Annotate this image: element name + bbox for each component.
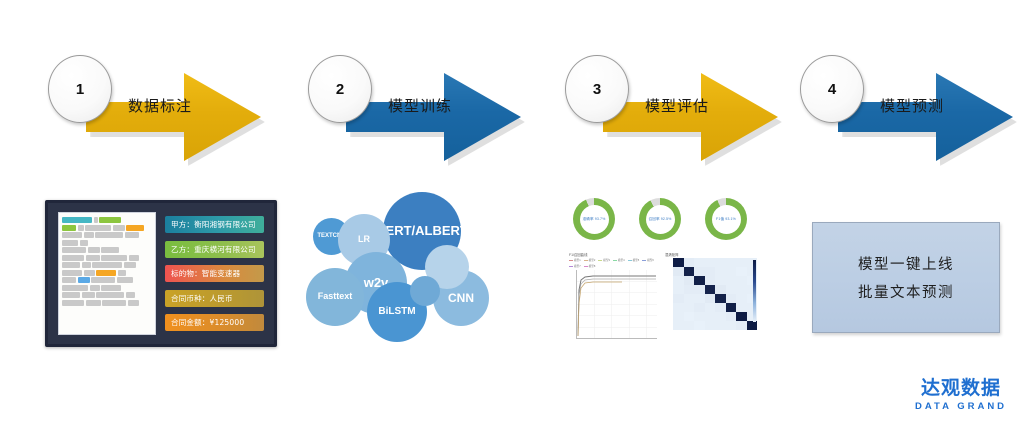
matrix-cell [684, 312, 695, 321]
text-token [82, 292, 95, 298]
bubble-label: CNN [448, 292, 474, 305]
bubble-label: ALBERT [415, 224, 468, 238]
matrix-cell [673, 258, 684, 267]
arrow-body [603, 73, 778, 161]
step-2-model-training[interactable]: 2 模型训练 [308, 55, 538, 170]
metric-donut-label: 召回率 92.5% [649, 217, 672, 222]
arrow-body [86, 73, 261, 161]
step-3-model-evaluation[interactable]: 3 模型评估 [565, 55, 795, 170]
legend-entry: 模型5 [628, 258, 640, 262]
matrix-cell [705, 285, 716, 294]
matrix-cell [694, 258, 705, 267]
document-text-line [62, 292, 152, 298]
entity-tag: 标的物：智能变速器 [165, 265, 264, 282]
arrow-body [838, 73, 1013, 161]
legend-entry: 模型8 [584, 264, 596, 268]
legend-entry: 模型4 [613, 258, 625, 262]
text-token [62, 255, 84, 261]
text-token [117, 277, 133, 283]
legend-swatch [642, 260, 646, 261]
text-token [113, 225, 125, 231]
matrix-cell [673, 303, 684, 312]
step-1-data-annotation[interactable]: 1 数据标注 [48, 55, 278, 170]
matrix-cell [726, 294, 737, 303]
matrix-cell [673, 285, 684, 294]
matrix-cell [715, 294, 726, 303]
legend-entry: 模型6 [642, 258, 654, 262]
text-token [82, 262, 91, 268]
matrix-cell [726, 258, 737, 267]
matrix-cell [715, 303, 726, 312]
step-number-badge: 1 [48, 55, 112, 123]
matrix-cell [715, 285, 726, 294]
annotated-document-text [58, 212, 156, 335]
deploy-line-2: 批量文本预测 [858, 281, 954, 302]
matrix-cell [736, 267, 747, 276]
matrix-cell [694, 285, 705, 294]
matrix-cell [726, 303, 737, 312]
document-text-line [62, 247, 152, 253]
legend-label: 模型2 [589, 258, 596, 262]
step-number-badge: 2 [308, 55, 372, 123]
legend-swatch [598, 260, 602, 261]
legend-label: 模型4 [618, 258, 625, 262]
entity-tag: 合同币种：人民币 [165, 290, 264, 307]
model-bubble[interactable]: Fasttext [306, 268, 364, 326]
text-token [78, 277, 90, 283]
brand-logo: 达观数据 DATA GRAND [905, 378, 1017, 412]
document-text-line [62, 217, 152, 223]
roc-chart-legend: 模型1模型2模型3模型4模型5模型6模型7模型8 [569, 258, 657, 268]
metric-donut: 准确率 93.7% [573, 198, 615, 240]
roc-chart-title: F1/召回曲线 [569, 252, 657, 257]
roc-plot-area [576, 270, 657, 339]
step-label: 数据标注 [100, 95, 220, 116]
evaluation-charts: 准确率 93.7%召回率 92.5%F1值 93.1% F1/召回曲线 模型1模… [565, 196, 760, 348]
metric-donut-gauges: 准确率 93.7%召回率 92.5%F1值 93.1% [573, 198, 753, 244]
text-token [126, 292, 135, 298]
document-text-line [62, 277, 152, 283]
step-number-badge: 4 [800, 55, 864, 123]
text-token [90, 285, 100, 291]
matrix-cell [736, 258, 747, 267]
text-token [126, 225, 144, 231]
text-token [62, 247, 86, 253]
matrix-cell [684, 276, 695, 285]
matrix-colorbar [753, 260, 756, 322]
matrix-cell [673, 312, 684, 321]
document-text-line [62, 255, 152, 261]
text-token [129, 255, 139, 261]
matrix-cell [684, 294, 695, 303]
document-text-line [62, 262, 152, 268]
matrix-cell [684, 258, 695, 267]
matrix-cell [705, 321, 716, 330]
document-text-line [62, 300, 152, 306]
legend-swatch [584, 260, 588, 261]
text-token [62, 217, 92, 223]
roc-curve-card: F1/召回曲线 模型1模型2模型3模型4模型5模型6模型7模型8 [569, 252, 657, 344]
entity-tag-list: 甲方：衡阳湘钢有限公司乙方：重庆横河有限公司标的物：智能变速器合同币种：人民币合… [165, 212, 264, 335]
text-token [101, 255, 127, 261]
metric-donut-label: F1值 93.1% [716, 217, 736, 222]
text-token [101, 285, 121, 291]
text-token [86, 255, 100, 261]
matrix-cells [673, 258, 757, 330]
text-token [62, 292, 80, 298]
matrix-cell [726, 267, 737, 276]
matrix-cell [715, 276, 726, 285]
matrix-cell [684, 267, 695, 276]
matrix-cell [694, 267, 705, 276]
matrix-cell [673, 267, 684, 276]
matrix-cell [705, 303, 716, 312]
text-token [101, 247, 119, 253]
arrow-shape [838, 73, 1013, 161]
matrix-cell [726, 276, 737, 285]
step-label: 模型训练 [360, 95, 480, 116]
document-text-line [62, 232, 152, 238]
matrix-cell [705, 294, 716, 303]
document-text-line [62, 270, 152, 276]
arrow-body [346, 73, 521, 161]
text-token [124, 262, 136, 268]
text-token [80, 240, 88, 246]
matrix-cell [726, 321, 737, 330]
legend-entry: 模型7 [569, 264, 581, 268]
confusion-matrix-plot [673, 258, 757, 330]
metric-donut: F1值 93.1% [705, 198, 747, 240]
matrix-cell [694, 312, 705, 321]
text-token [78, 225, 84, 231]
matrix-cell [726, 285, 737, 294]
entity-tag: 乙方：重庆横河有限公司 [165, 241, 264, 258]
text-token [86, 300, 101, 306]
metric-donut: 召回率 92.5% [639, 198, 681, 240]
text-token [85, 225, 111, 231]
arrow-shape [346, 73, 521, 161]
deploy-line-1: 模型一键上线 [858, 253, 954, 274]
text-token [99, 217, 121, 223]
logo-chinese-name: 达观数据 [905, 378, 1017, 399]
legend-label: 模型5 [633, 258, 640, 262]
text-token [94, 217, 98, 223]
matrix-cell [747, 321, 758, 330]
matrix-cell [684, 285, 695, 294]
text-token [118, 270, 126, 276]
deployment-panel: 模型一键上线 批量文本预测 [812, 222, 1000, 333]
legend-swatch [628, 260, 632, 261]
matrix-cell [736, 294, 747, 303]
bubble-label: BiLSTM [378, 307, 415, 318]
entity-tag: 合同金额：¥125000 [165, 314, 264, 331]
legend-entry: 模型1 [569, 258, 581, 262]
matrix-cell [673, 276, 684, 285]
matrix-cell [736, 285, 747, 294]
matrix-cell [705, 258, 716, 267]
matrix-cell [694, 303, 705, 312]
matrix-cell [715, 258, 726, 267]
matrix-cell [705, 267, 716, 276]
slide-canvas: 1 数据标注 2 模型训练 3 模型评估 4 模型预测 甲方：衡阳湘钢有限公司乙… [0, 0, 1024, 440]
arrow-shape [603, 73, 778, 161]
legend-swatch [613, 260, 617, 261]
matrix-cell [715, 267, 726, 276]
matrix-cell [684, 303, 695, 312]
model-bubble-cluster: BERT/ALBERTTEXTCNNLRw2vFasttextBiLSTMCNN [305, 190, 520, 350]
legend-label: 模型1 [574, 258, 581, 262]
matrix-cell [705, 276, 716, 285]
matrix-chart-title: 混淆矩阵 [665, 252, 757, 257]
text-token [96, 270, 116, 276]
confusion-matrix-card: 混淆矩阵 [665, 252, 757, 344]
text-token [84, 232, 94, 238]
matrix-cell [736, 303, 747, 312]
text-token [62, 262, 80, 268]
matrix-cell [736, 276, 747, 285]
logo-english-name: DATA GRAND [905, 401, 1017, 412]
text-token [62, 285, 88, 291]
document-text-line [62, 285, 152, 291]
legend-swatch [584, 266, 588, 267]
legend-swatch [569, 266, 573, 267]
text-token [125, 232, 139, 238]
matrix-cell [673, 321, 684, 330]
legend-entry: 模型3 [598, 258, 610, 262]
document-text-line [62, 225, 152, 231]
legend-label: 模型8 [589, 264, 596, 268]
matrix-cell [673, 294, 684, 303]
text-token [62, 232, 82, 238]
text-token [92, 262, 122, 268]
matrix-cell [694, 276, 705, 285]
bubble-label: LR [358, 235, 370, 244]
text-token [62, 277, 76, 283]
step-4-model-prediction[interactable]: 4 模型预测 [800, 55, 1024, 170]
matrix-cell [715, 321, 726, 330]
text-token [91, 277, 115, 283]
bubble-label: Fasttext [318, 292, 353, 301]
decorative-bubble [410, 276, 440, 306]
matrix-cell [736, 321, 747, 330]
legend-label: 模型7 [574, 264, 581, 268]
matrix-cell [736, 312, 747, 321]
text-token [62, 300, 84, 306]
text-token [84, 270, 95, 276]
roc-curve-lines [577, 270, 657, 338]
text-token [95, 232, 123, 238]
arrow-shape [86, 73, 261, 161]
text-token [62, 225, 76, 231]
text-token [96, 292, 124, 298]
text-token [88, 247, 100, 253]
matrix-cell [684, 321, 695, 330]
legend-label: 模型3 [603, 258, 610, 262]
matrix-cell [705, 312, 716, 321]
text-token [128, 300, 139, 306]
text-token [62, 270, 82, 276]
step-label: 模型预测 [852, 95, 972, 116]
legend-swatch [569, 260, 573, 261]
legend-label: 模型6 [647, 258, 654, 262]
bubble-label: TEXT [317, 233, 332, 239]
matrix-cell [715, 312, 726, 321]
matrix-cell [726, 312, 737, 321]
metric-donut-label: 准确率 93.7% [583, 217, 606, 222]
entity-tag: 甲方：衡阳湘钢有限公司 [165, 216, 264, 233]
document-text-line [62, 240, 152, 246]
annotation-screenshot: 甲方：衡阳湘钢有限公司乙方：重庆横河有限公司标的物：智能变速器合同币种：人民币合… [45, 200, 277, 347]
matrix-cell [694, 321, 705, 330]
text-token [62, 240, 78, 246]
legend-entry: 模型2 [584, 258, 596, 262]
step-number-badge: 3 [565, 55, 629, 123]
matrix-cell [694, 294, 705, 303]
text-token [102, 300, 126, 306]
step-label: 模型评估 [617, 95, 737, 116]
